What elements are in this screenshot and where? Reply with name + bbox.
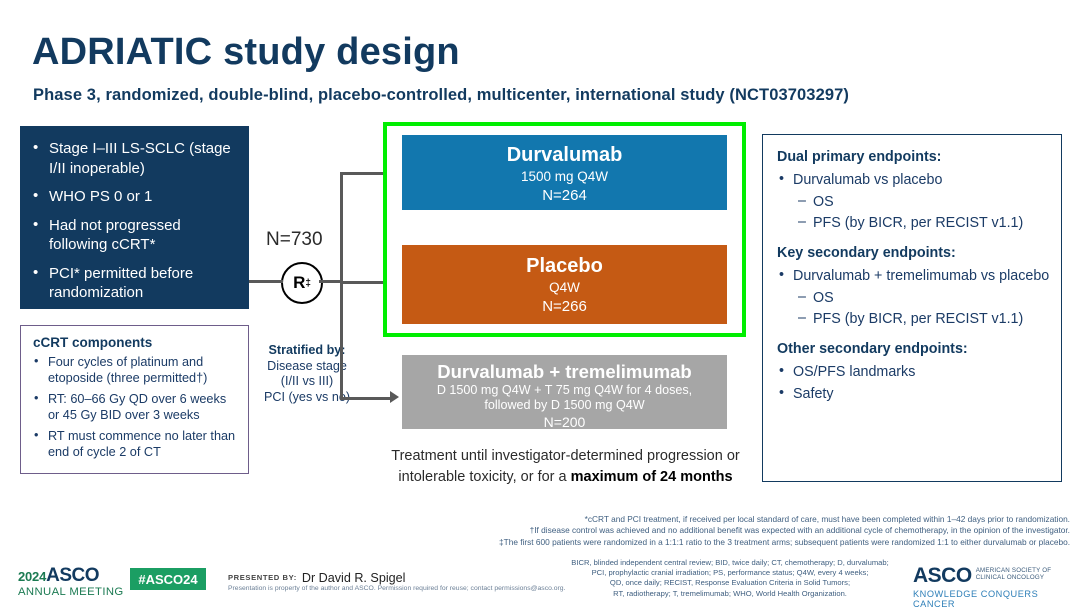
slide: ADRIATIC study design Phase 3, randomize… [0,0,1080,607]
dual-primary-endpoints-heading: Dual primary endpoints: [777,149,1051,165]
connector-line [340,172,388,175]
list-item: Safety [777,385,1051,404]
randomization-letter: R [293,273,305,293]
connector-line [340,172,343,400]
arrow-head-icon [390,391,399,403]
list-item: Durvalumab + tremelimumab vs placebo [777,267,1051,286]
ccrt-components-panel: cCRT components Four cycles of platinum … [20,325,249,474]
key-secondary-endpoints-heading: Key secondary endpoints: [777,245,1051,261]
treatment-arm-durvalumab: Durvalumab 1500 mg Q4W N=264 [402,135,727,210]
stratification-block: Stratified by: Disease stage (I/II vs II… [252,343,362,405]
arm-name: Durvalumab [402,143,727,167]
randomization-footnote-marker: ‡ [305,278,311,289]
treatment-note-line2-prefix: intolerable toxicity, or for a [398,469,570,485]
connector-line [340,397,392,400]
treatment-arm-durvalumab-tremelimumab: Durvalumab + tremelimumab D 1500 mg Q4W … [402,355,727,429]
ccrt-list: Four cycles of platinum and etoposide (t… [30,355,240,460]
page-subtitle: Phase 3, randomized, double-blind, place… [33,86,849,105]
key-secondary-endpoints-list: Durvalumab + tremelimumab vs placebo OS … [777,267,1051,329]
footnote: †If disease control was achieved and no … [430,525,1070,536]
stratification-item: PCI (yes vs no) [264,390,350,404]
list-item: Durvalumab vs placebo [777,171,1051,190]
page-title: ADRIATIC study design [32,33,460,71]
ccrt-heading: cCRT components [33,335,240,350]
list-item: OS [777,193,1051,212]
eligibility-list: Stage I–III LS-SCLC (stage I/II inoperab… [28,139,239,303]
arm-name: Durvalumab + tremelimumab [402,360,727,383]
hashtag-badge: #ASCO24 [130,568,206,590]
list-item: Stage I–III LS-SCLC (stage I/II inoperab… [28,139,239,178]
endpoints-panel: Dual primary endpoints: Durvalumab vs pl… [762,134,1062,482]
presenter-name: Dr David R. Spigel [302,571,406,585]
stratification-item: Disease stage [267,359,347,373]
meeting-year: 2024 [18,569,46,584]
footnotes-block: *cCRT and PCI treatment, if received per… [430,514,1070,548]
asco-tagline: AMERICAN SOCIETY OF CLINICAL ONCOLOGY [976,567,1052,582]
abbreviations-block: BICR, blinded independent central review… [560,558,900,599]
meeting-brand: ASCO [46,565,99,586]
arm-dose: Q4W [402,278,727,297]
other-secondary-endpoints-heading: Other secondary endpoints: [777,341,1051,357]
asco-annual-meeting-logo: 2024ASCO ANNUAL MEETING [18,566,124,598]
list-item: WHO PS 0 or 1 [28,187,239,207]
arm-n: N=264 [402,186,727,206]
treatment-arm-placebo: Placebo Q4W N=266 [402,245,727,324]
asco-logo: ASCO AMERICAN SOCIETY OF CLINICAL ONCOLO… [913,565,1080,609]
randomization-icon: R‡ [281,262,323,304]
footnote: ‡The first 600 patients were randomized … [430,537,1070,548]
other-secondary-endpoints-list: OS/PFS landmarks Safety [777,363,1051,404]
footnote: *cCRT and PCI treatment, if received per… [430,514,1070,525]
stratification-heading: Stratified by: [269,343,346,357]
list-item: PFS (by BICR, per RECIST v1.1) [777,310,1051,329]
list-item: Four cycles of platinum and etoposide (t… [30,355,240,386]
asco-slogan: KNOWLEDGE CONQUERS CANCER [913,589,1080,609]
arm-n: N=200 [402,413,727,431]
arm-dose-line2: followed by D 1500 mg Q4W [402,398,727,413]
permission-notice: Presentation is property of the author a… [228,585,565,592]
abbreviation-line: RT, radiotherapy; T, tremelimumab; WHO, … [560,589,900,599]
meeting-subtitle: ANNUAL MEETING [18,587,124,598]
connector-line [249,280,283,283]
abbreviation-line: BICR, blinded independent central review… [560,558,900,568]
treatment-note-line1: Treatment until investigator-determined … [391,448,739,464]
treatment-note-emphasis: maximum of 24 months [571,469,733,485]
list-item: RT: 60–66 Gy QD over 6 weeks or 45 Gy BI… [30,392,240,423]
list-item: OS [777,289,1051,308]
total-enrollment-label: N=730 [266,229,323,251]
dual-primary-endpoints-list: Durvalumab vs placebo OS PFS (by BICR, p… [777,171,1051,233]
arm-dose-line1: D 1500 mg Q4W + T 75 mg Q4W for 4 doses, [402,383,727,398]
list-item: RT must commence no later than end of cy… [30,429,240,460]
arm-n: N=266 [402,297,727,317]
list-item: OS/PFS landmarks [777,363,1051,382]
list-item: PCI* permitted before randomization [28,264,239,303]
eligibility-panel: Stage I–III LS-SCLC (stage I/II inoperab… [20,126,249,309]
stratification-item: (I/II vs III) [281,374,333,388]
asco-tagline-line1: AMERICAN SOCIETY OF [976,567,1052,574]
list-item: PFS (by BICR, per RECIST v1.1) [777,214,1051,233]
list-item: Had not progressed following cCRT* [28,216,239,255]
abbreviation-line: PCI, prophylactic cranial irradiation; P… [560,568,900,578]
arm-dose: 1500 mg Q4W [402,167,727,186]
abbreviation-line: QD, once daily; RECIST, Response Evaluat… [560,578,900,588]
arm-name: Placebo [402,254,727,278]
asco-tagline-line2: CLINICAL ONCOLOGY [976,574,1045,581]
asco-wordmark: ASCO [913,565,972,586]
presented-by-label: PRESENTED BY: [228,573,297,582]
treatment-duration-note: Treatment until investigator-determined … [358,446,773,488]
